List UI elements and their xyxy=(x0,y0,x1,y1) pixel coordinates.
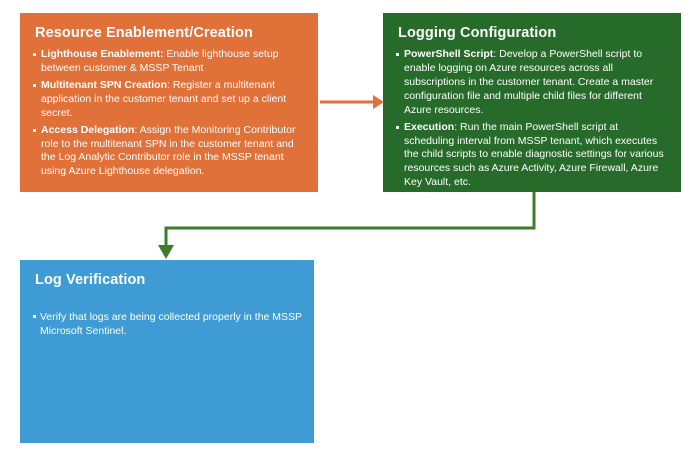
arrow-logging-to-verification-icon xyxy=(158,192,534,259)
process-box-logging-configuration[interactable]: Logging Configuration PowerShell Script:… xyxy=(383,13,681,192)
box-title-logging-configuration: Logging Configuration xyxy=(398,25,671,42)
bullet-lighthouse-enablement: Lighthouse Enablement: Enable lighthouse… xyxy=(32,48,308,76)
bullet-lead-execution: Execution xyxy=(404,121,454,133)
bullet-execution: Execution: Run the main PowerShell scrip… xyxy=(395,121,671,190)
bullet-verify-logs: Verify that logs are being collected pro… xyxy=(32,311,304,339)
bullet-access-delegation: Access Delegation: Assign the Monitoring… xyxy=(32,124,308,179)
bullet-list-logging-configuration: PowerShell Script: Develop a PowerShell … xyxy=(395,48,671,190)
bullet-lead-powershell-script: PowerShell Script xyxy=(404,48,493,60)
process-box-log-verification[interactable]: Log Verification Verify that logs are be… xyxy=(20,260,314,443)
bullet-multitenant-spn-creation: Multitenant SPN Creation: Register a mul… xyxy=(32,79,308,121)
bullet-lead-access-delegation: Access Delegation xyxy=(41,124,134,136)
process-box-resource-enablement[interactable]: Resource Enablement/Creation Lighthouse … xyxy=(20,13,318,192)
diagram-canvas: Resource Enablement/Creation Lighthouse … xyxy=(0,0,698,452)
box-title-log-verification: Log Verification xyxy=(35,272,304,289)
arrow-resource-to-logging-icon xyxy=(320,95,384,109)
bullet-lead-multitenant-spn-creation: Multitenant SPN Creation xyxy=(41,79,167,91)
box-title-resource-enablement: Resource Enablement/Creation xyxy=(35,25,308,42)
bullet-powershell-script: PowerShell Script: Develop a PowerShell … xyxy=(395,48,671,117)
bullet-list-resource-enablement: Lighthouse Enablement: Enable lighthouse… xyxy=(32,48,308,179)
bullet-list-log-verification: Verify that logs are being collected pro… xyxy=(32,311,304,339)
bullet-lead-lighthouse-enablement: Lighthouse Enablement: xyxy=(41,48,164,60)
bullet-text-verify-logs: Verify that logs are being collected pro… xyxy=(40,311,302,337)
